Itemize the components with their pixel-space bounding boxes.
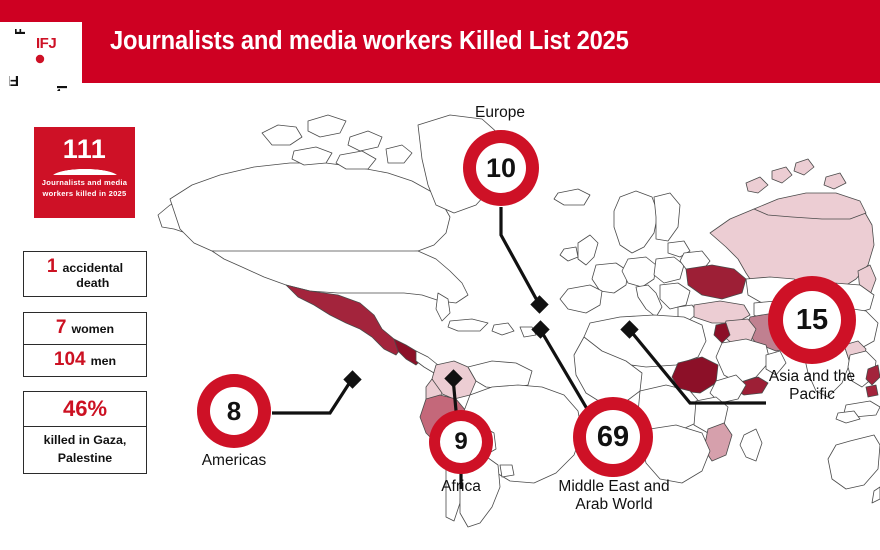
page-title: Journalists and media workers Killed Lis… xyxy=(110,0,629,83)
marker-africa[interactable]: 9 xyxy=(429,410,493,474)
diamond-marker-levant xyxy=(531,320,549,338)
diamond-marker-ukraine xyxy=(530,295,548,313)
diamond-marker-sudan xyxy=(444,369,462,387)
region-label-africa: Africa xyxy=(400,478,522,496)
logo-container: FIP IFJ IJF FIJ xyxy=(0,22,82,100)
marker-europe-value: 10 xyxy=(476,143,526,193)
marker-middle-east-value: 69 xyxy=(586,410,640,464)
region-label-middle-east: Middle East and Arab World xyxy=(520,478,708,514)
svg-text:FIJ: FIJ xyxy=(9,72,19,89)
marker-africa-value: 9 xyxy=(440,421,482,463)
marker-middle-east[interactable]: 69 xyxy=(573,397,653,477)
svg-text:IJF: IJF xyxy=(53,85,70,91)
marker-americas-value: 8 xyxy=(210,387,258,435)
map-point-markers xyxy=(343,295,638,388)
marker-asia-pacific[interactable]: 15 xyxy=(768,276,856,364)
svg-text:IFJ: IFJ xyxy=(36,35,56,52)
marker-americas[interactable]: 8 xyxy=(197,374,271,448)
leader-line-americas xyxy=(272,379,352,413)
region-label-asia-pacific: Asia and the Pacific xyxy=(742,368,880,404)
region-label-americas: Americas xyxy=(168,452,300,470)
marker-asia-pacific-value: 15 xyxy=(783,291,841,349)
ifj-fip-fij-logo-icon: FIP IFJ IJF FIJ xyxy=(9,29,73,91)
leader-line-europe xyxy=(501,207,539,304)
svg-text:FIP: FIP xyxy=(12,29,29,35)
region-label-europe: Europe xyxy=(425,104,575,122)
marker-europe[interactable]: 10 xyxy=(463,130,539,206)
